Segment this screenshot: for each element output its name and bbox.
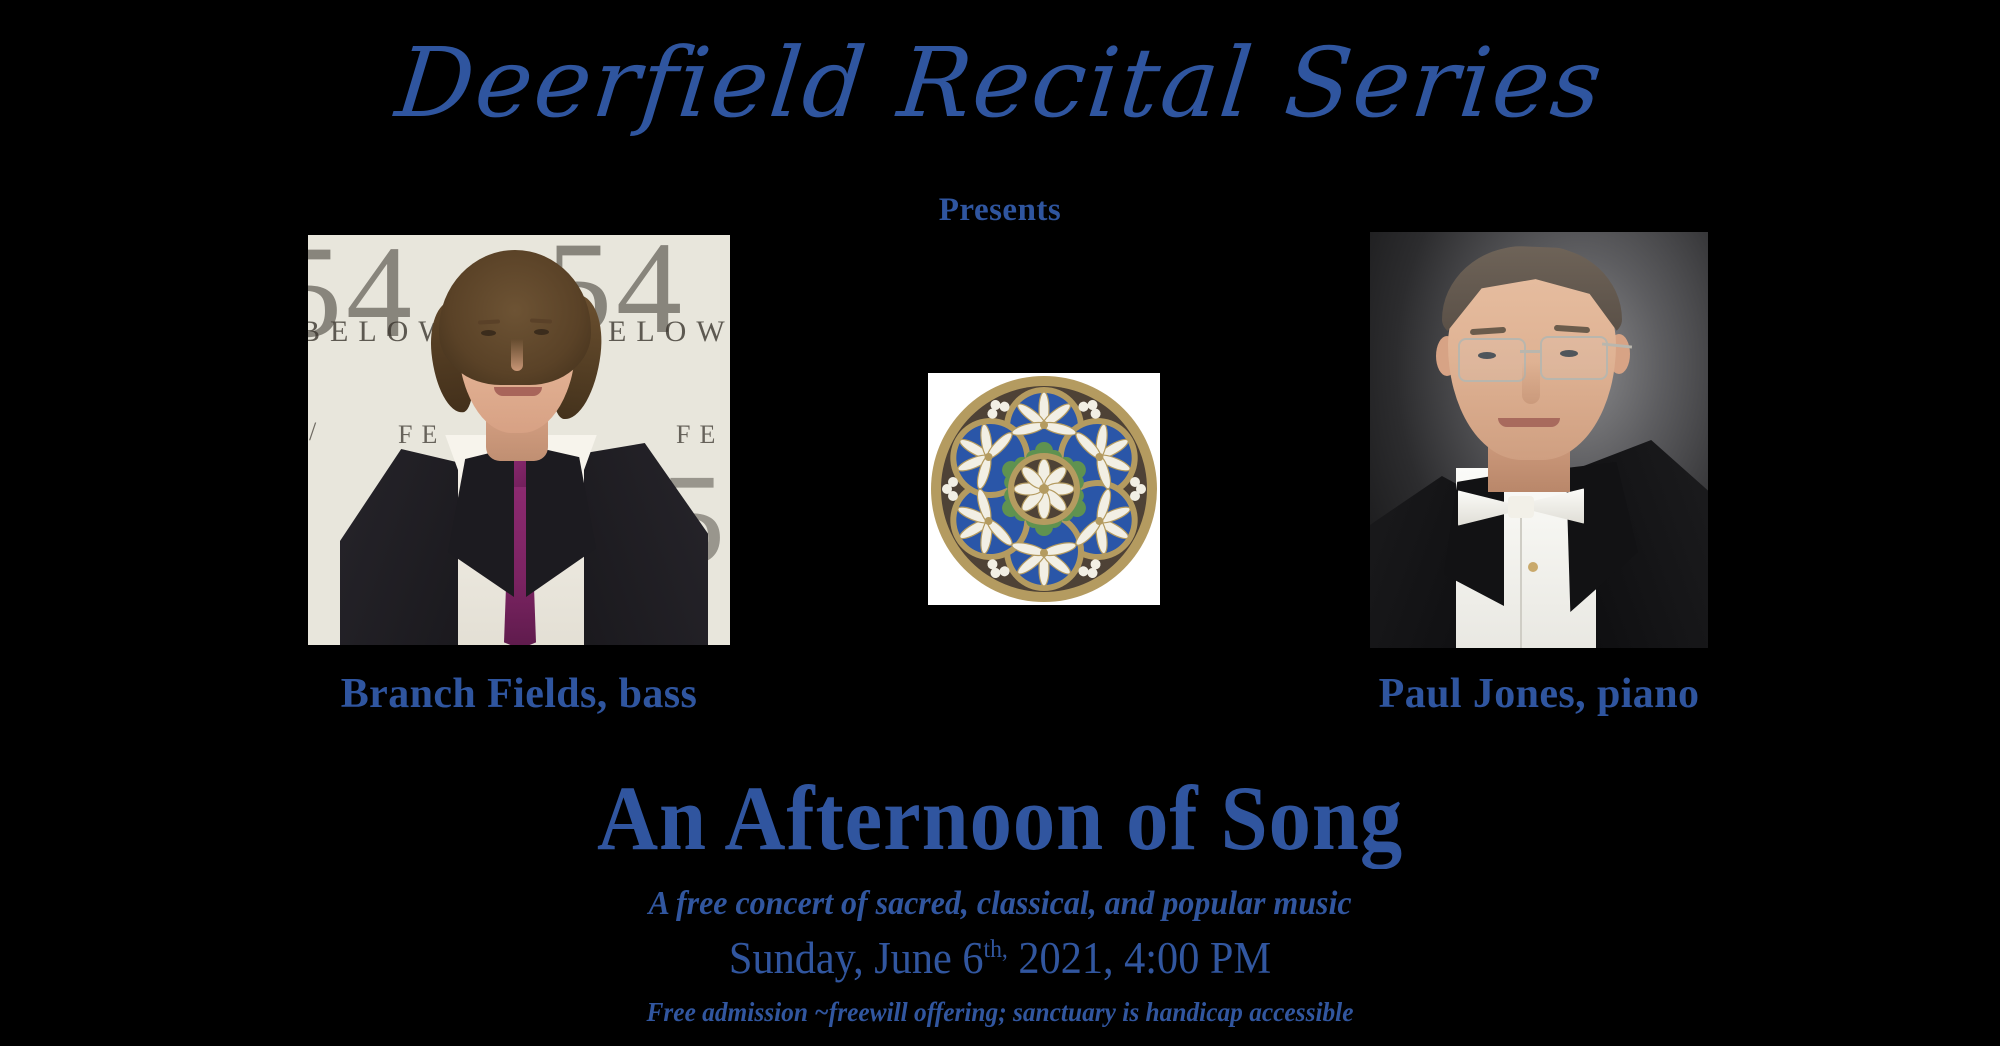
concert-date-line: Sunday, June 6th, 2021, 4:00 PM bbox=[60, 932, 1940, 984]
eyeglasses-lens-left bbox=[1458, 338, 1526, 382]
concert-date-ordinal: th, bbox=[983, 936, 1007, 963]
concert-date-prefix: Sunday, June 6 bbox=[729, 933, 984, 983]
shirt-pleat bbox=[1520, 512, 1522, 648]
nose bbox=[1522, 362, 1540, 404]
mouth bbox=[494, 387, 542, 396]
eye-right bbox=[534, 329, 549, 335]
series-title: Deerfield Recital Series bbox=[0, 28, 2000, 138]
rose-window-emblem bbox=[928, 373, 1160, 605]
bow-tie-knot bbox=[1508, 496, 1534, 518]
eyeglasses-bridge bbox=[1520, 350, 1542, 353]
rose-window-icon bbox=[928, 373, 1160, 605]
performer-name-left: Branch Fields, bass bbox=[308, 670, 730, 718]
concert-poster: Deerfield Recital Series Presents 54 54 … bbox=[0, 0, 2000, 1046]
mouth bbox=[1498, 418, 1560, 427]
presents-label: Presents bbox=[0, 192, 2000, 229]
performer-name-right: Paul Jones, piano bbox=[1370, 670, 1708, 718]
backdrop-five-small: 5/ bbox=[308, 417, 318, 447]
performer-photo-branch-fields: 54 54 BELOW BELOW 5/ FE FE 5 bbox=[308, 235, 730, 645]
performer-photo-paul-jones bbox=[1370, 232, 1708, 648]
admission-note: Free admission ~freewill offering; sanct… bbox=[60, 997, 1940, 1028]
concert-date-suffix: 2021, 4:00 PM bbox=[1008, 933, 1271, 983]
nose bbox=[511, 339, 523, 371]
concert-description: A free concert of sacred, classical, and… bbox=[60, 885, 1940, 923]
eyeglasses-lens-right bbox=[1540, 336, 1608, 380]
backdrop-fe-left: FE bbox=[398, 420, 446, 450]
eye-left bbox=[481, 330, 496, 336]
shirt-stud bbox=[1528, 562, 1538, 572]
concert-title: An Afternoon of Song bbox=[80, 772, 1920, 864]
